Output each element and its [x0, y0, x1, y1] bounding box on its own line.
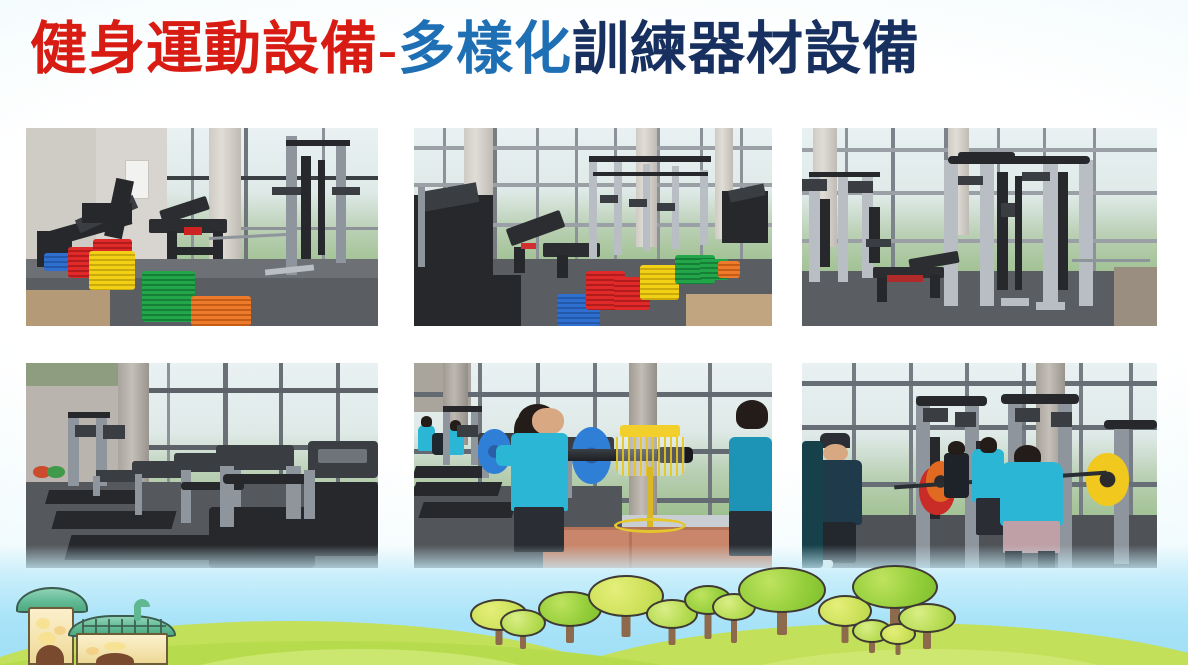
cartoon-tree [898, 603, 956, 649]
weight-plate-stack-yellow [89, 251, 135, 291]
photo-gym-wide-view[interactable]: 訓練室全景 - 多功能訓練機組與槓片 [414, 128, 772, 326]
student-head [532, 408, 564, 435]
photo-power-rack-coaching[interactable]: 深蹲架教學 - 教練指導學生 [802, 363, 1157, 568]
page-title: 健身運動設備-多樣化訓練器材設備 [30, 14, 920, 85]
weight-plate-stack-yellow [640, 265, 679, 301]
page-title-segment-1: 健身運動設備- [30, 18, 398, 81]
student-shirt [511, 433, 568, 511]
weight-plate-stack-orange [191, 296, 251, 326]
bumper-plate-yellow [1086, 453, 1129, 506]
cottage-main-door [96, 653, 134, 665]
disc-golf-basket [614, 425, 686, 532]
slide-canvas: 健身運動設備-多樣化訓練器材設備 [0, 0, 1188, 665]
cartoon-cottage [8, 569, 193, 665]
weight-plate-stack-green [142, 271, 195, 322]
cartoon-tree [738, 567, 826, 635]
photo-gym-weights-area[interactable]: 重量訓練區 - 腿推機、臥推椅與彩色槓片 [26, 128, 378, 326]
photo-student-squat-barbell[interactable]: 學生深蹲訓練 - 槓鈴肩上背負 [414, 363, 772, 568]
bottom-decoration-band [0, 545, 1188, 665]
page-title-segment-3: 訓練器材設備 [572, 18, 920, 81]
photo-cable-smith-machine[interactable]: 綜合訓練機 - 滑輪纜繩與史密斯機 [802, 128, 1157, 326]
photo-treadmill-row[interactable]: 有氧訓練區 - 跑步機排列 [26, 363, 378, 568]
page-title-segment-2: 多樣化 [398, 18, 572, 81]
cottage-tower-door [36, 645, 64, 665]
weight-plate-stack-orange [718, 261, 739, 279]
